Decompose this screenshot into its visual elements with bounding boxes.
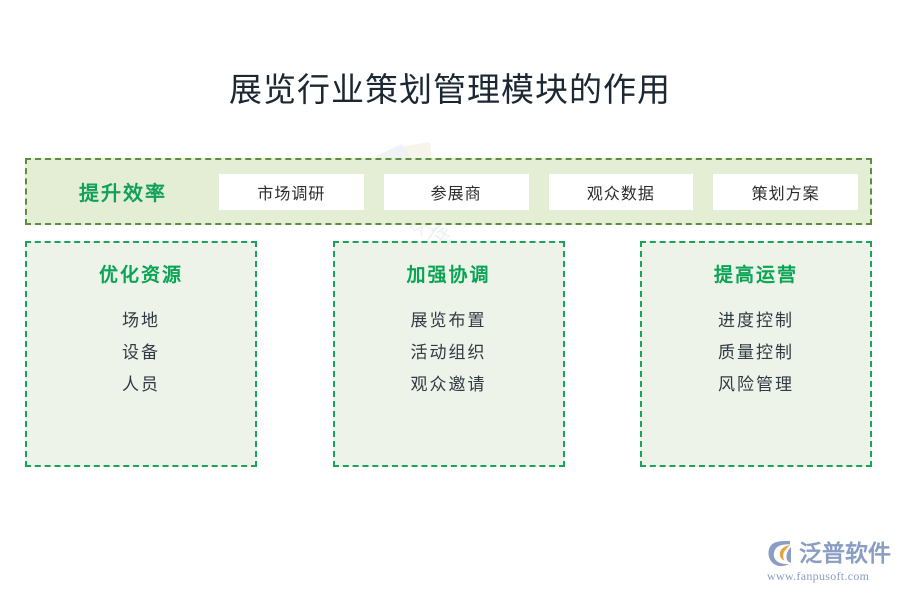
list-item: 展览布置: [335, 305, 563, 337]
brand-logo: 泛普软件 www.fanpusoft.com: [765, 538, 893, 586]
banner-chip-planning-scheme[interactable]: 策划方案: [713, 174, 858, 210]
brand-row: 泛普软件: [765, 538, 893, 568]
banner-chip-audience-data[interactable]: 观众数据: [549, 174, 694, 210]
brand-name: 泛普软件: [799, 539, 891, 567]
page-canvas: 泛普软件 FANPU SOFTWARE 展览行业策划管理模块的作用 提升效率 市…: [0, 0, 900, 600]
banner-label: 提升效率: [27, 177, 219, 206]
banner-chip-list: 市场调研 参展商 观众数据 策划方案: [219, 174, 870, 210]
page-title: 展览行业策划管理模块的作用: [0, 70, 900, 112]
banner-chip-market-research[interactable]: 市场调研: [219, 174, 364, 210]
panel-title: 加强协调: [335, 260, 563, 287]
list-item: 活动组织: [335, 337, 563, 369]
panel-strengthen-coordination: 加强协调 展览布置 活动组织 观众邀请: [333, 241, 565, 467]
list-item: 观众邀请: [335, 369, 563, 401]
list-item: 人员: [27, 369, 255, 401]
panel-group: 优化资源 场地 设备 人员 加强协调 展览布置 活动组织 观众邀请 提高运营 进…: [25, 241, 872, 467]
list-item: 质量控制: [642, 337, 870, 369]
efficiency-banner: 提升效率 市场调研 参展商 观众数据 策划方案: [25, 158, 872, 225]
list-item: 风险管理: [642, 369, 870, 401]
list-item: 设备: [27, 337, 255, 369]
list-item: 进度控制: [642, 305, 870, 337]
panel-title: 提高运营: [642, 260, 870, 287]
fanpu-swoosh-logo-icon: [765, 538, 795, 568]
panel-improve-operations: 提高运营 进度控制 质量控制 风险管理: [640, 241, 872, 467]
list-item: 场地: [27, 305, 255, 337]
brand-url: www.fanpusoft.com: [765, 569, 893, 584]
banner-chip-exhibitor[interactable]: 参展商: [384, 174, 529, 210]
panel-optimize-resources: 优化资源 场地 设备 人员: [25, 241, 257, 467]
panel-title: 优化资源: [27, 260, 255, 287]
